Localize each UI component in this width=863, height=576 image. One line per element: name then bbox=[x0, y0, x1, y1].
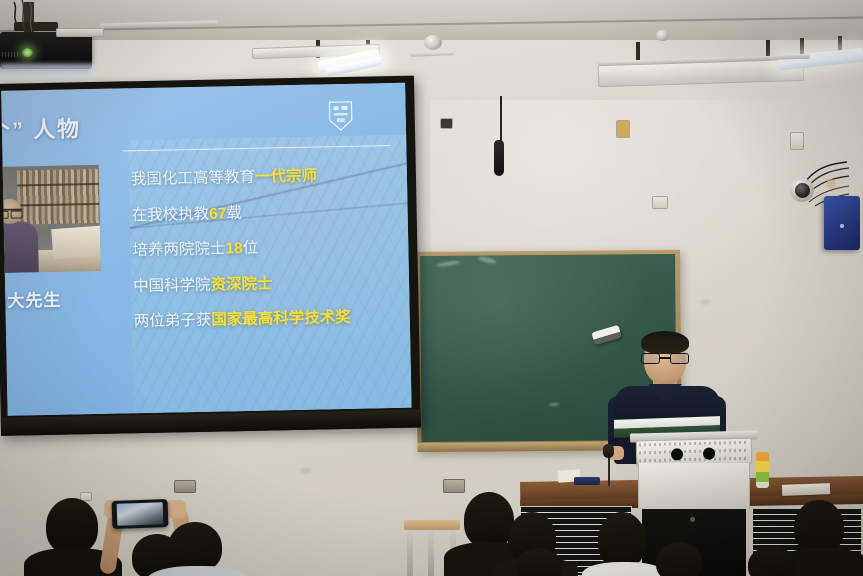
slide-caption: 匀大先生 bbox=[1, 286, 61, 312]
projector-cables bbox=[8, 0, 42, 36]
slide-line-highlight: 一代宗师 bbox=[255, 168, 317, 186]
slide-line-highlight: 国家最高科学技术奖 bbox=[211, 309, 351, 329]
wall-outlet bbox=[790, 132, 804, 150]
control-panel-labels bbox=[639, 441, 749, 464]
desk-device bbox=[574, 477, 600, 485]
glasses-bridge bbox=[660, 357, 670, 359]
portrait-papers bbox=[51, 225, 101, 259]
dome-security-camera bbox=[424, 35, 442, 50]
stool-leg bbox=[407, 530, 413, 576]
slide-line-highlight: 18 bbox=[225, 240, 243, 257]
chalk-smudge bbox=[436, 260, 460, 267]
chalk-smudge bbox=[478, 255, 497, 264]
audience-head bbox=[516, 548, 562, 576]
hanging-microphone bbox=[494, 140, 504, 176]
glasses-lens-left bbox=[641, 353, 660, 364]
audience-head bbox=[46, 498, 98, 554]
projector-lens-icon bbox=[22, 48, 33, 57]
wall-junction-box bbox=[824, 196, 860, 250]
list-item bbox=[740, 546, 806, 576]
dome-security-camera bbox=[656, 30, 669, 41]
audience-shoulders bbox=[146, 566, 250, 576]
slide-title: 个” 人物 bbox=[1, 111, 81, 145]
wall-mark bbox=[300, 468, 312, 473]
slide-line-text: 载 bbox=[226, 205, 242, 222]
list-item bbox=[648, 542, 710, 576]
projection-screen: 个” 人物 bbox=[0, 76, 421, 436]
presentation-slide: 个” 人物 bbox=[1, 83, 411, 416]
university-shield-emblem-icon bbox=[327, 100, 354, 133]
slide-line-highlight: 资深院士 bbox=[210, 275, 272, 293]
slide-line: 两位弟子获国家最高科学技术奖 bbox=[134, 309, 406, 330]
slide-portrait-photo bbox=[1, 165, 101, 273]
slide-line: 中国科学院资深院士 bbox=[133, 273, 405, 294]
camera-lens-icon bbox=[795, 183, 810, 198]
audience-head bbox=[748, 546, 796, 576]
stool-leg bbox=[428, 530, 434, 576]
lectern-body bbox=[638, 463, 750, 509]
slide-line: 培养两院院士18位 bbox=[132, 238, 404, 259]
slide-line-text: 我国化工高等教育 bbox=[131, 169, 255, 188]
list-item bbox=[508, 548, 570, 576]
glasses-lens-right bbox=[670, 353, 689, 364]
slide-line-text: 在我校执教 bbox=[131, 205, 209, 224]
projector-vents bbox=[2, 52, 20, 57]
list-item bbox=[150, 522, 242, 576]
audience-head bbox=[656, 542, 702, 576]
screen-surface: 个” 人物 bbox=[1, 83, 411, 416]
lecture-hall-photo: 个” 人物 bbox=[0, 0, 863, 576]
slide-body-lines: 我国化工高等教育一代宗师 在我校执教67载 培养两院院士18位 中国科学院资深院… bbox=[131, 167, 407, 350]
wall-notice bbox=[616, 120, 630, 138]
wall-outlet bbox=[440, 118, 453, 129]
portrait-body bbox=[1, 221, 39, 273]
chalk-smudge bbox=[549, 403, 559, 406]
light-housing bbox=[56, 28, 104, 37]
slide-line: 我国化工高等教育一代宗师 bbox=[131, 167, 403, 188]
open-book bbox=[782, 483, 830, 496]
slide-line-text: 位 bbox=[242, 240, 258, 257]
wall-speaker bbox=[443, 479, 465, 493]
microphone-cable bbox=[500, 96, 502, 144]
gooseneck-microphone bbox=[603, 444, 614, 458]
slide-line-text: 中国科学院 bbox=[133, 276, 211, 295]
slide-line-text: 培养两院院士 bbox=[132, 240, 225, 259]
wall-outlet bbox=[652, 196, 668, 209]
eyeglasses-icon bbox=[639, 353, 691, 364]
hand bbox=[166, 500, 186, 518]
bookshelf bbox=[17, 169, 100, 225]
wall-mark bbox=[700, 300, 710, 304]
slide-line: 在我校执教67载 bbox=[132, 202, 404, 223]
slide-line-text: 两位弟子获 bbox=[134, 312, 212, 331]
junction-box-indicator bbox=[840, 224, 844, 228]
eyeglasses-icon bbox=[1, 208, 22, 215]
drink-bottle bbox=[756, 452, 769, 488]
wall-speaker bbox=[174, 480, 196, 493]
dome-security-camera bbox=[790, 178, 814, 202]
audience-head bbox=[168, 522, 222, 572]
lectern-latch[interactable] bbox=[690, 517, 695, 522]
audience-head bbox=[598, 512, 646, 568]
presenter-hair bbox=[641, 331, 689, 354]
slide-line-highlight: 67 bbox=[209, 205, 227, 222]
projector-light-beam bbox=[0, 64, 96, 80]
